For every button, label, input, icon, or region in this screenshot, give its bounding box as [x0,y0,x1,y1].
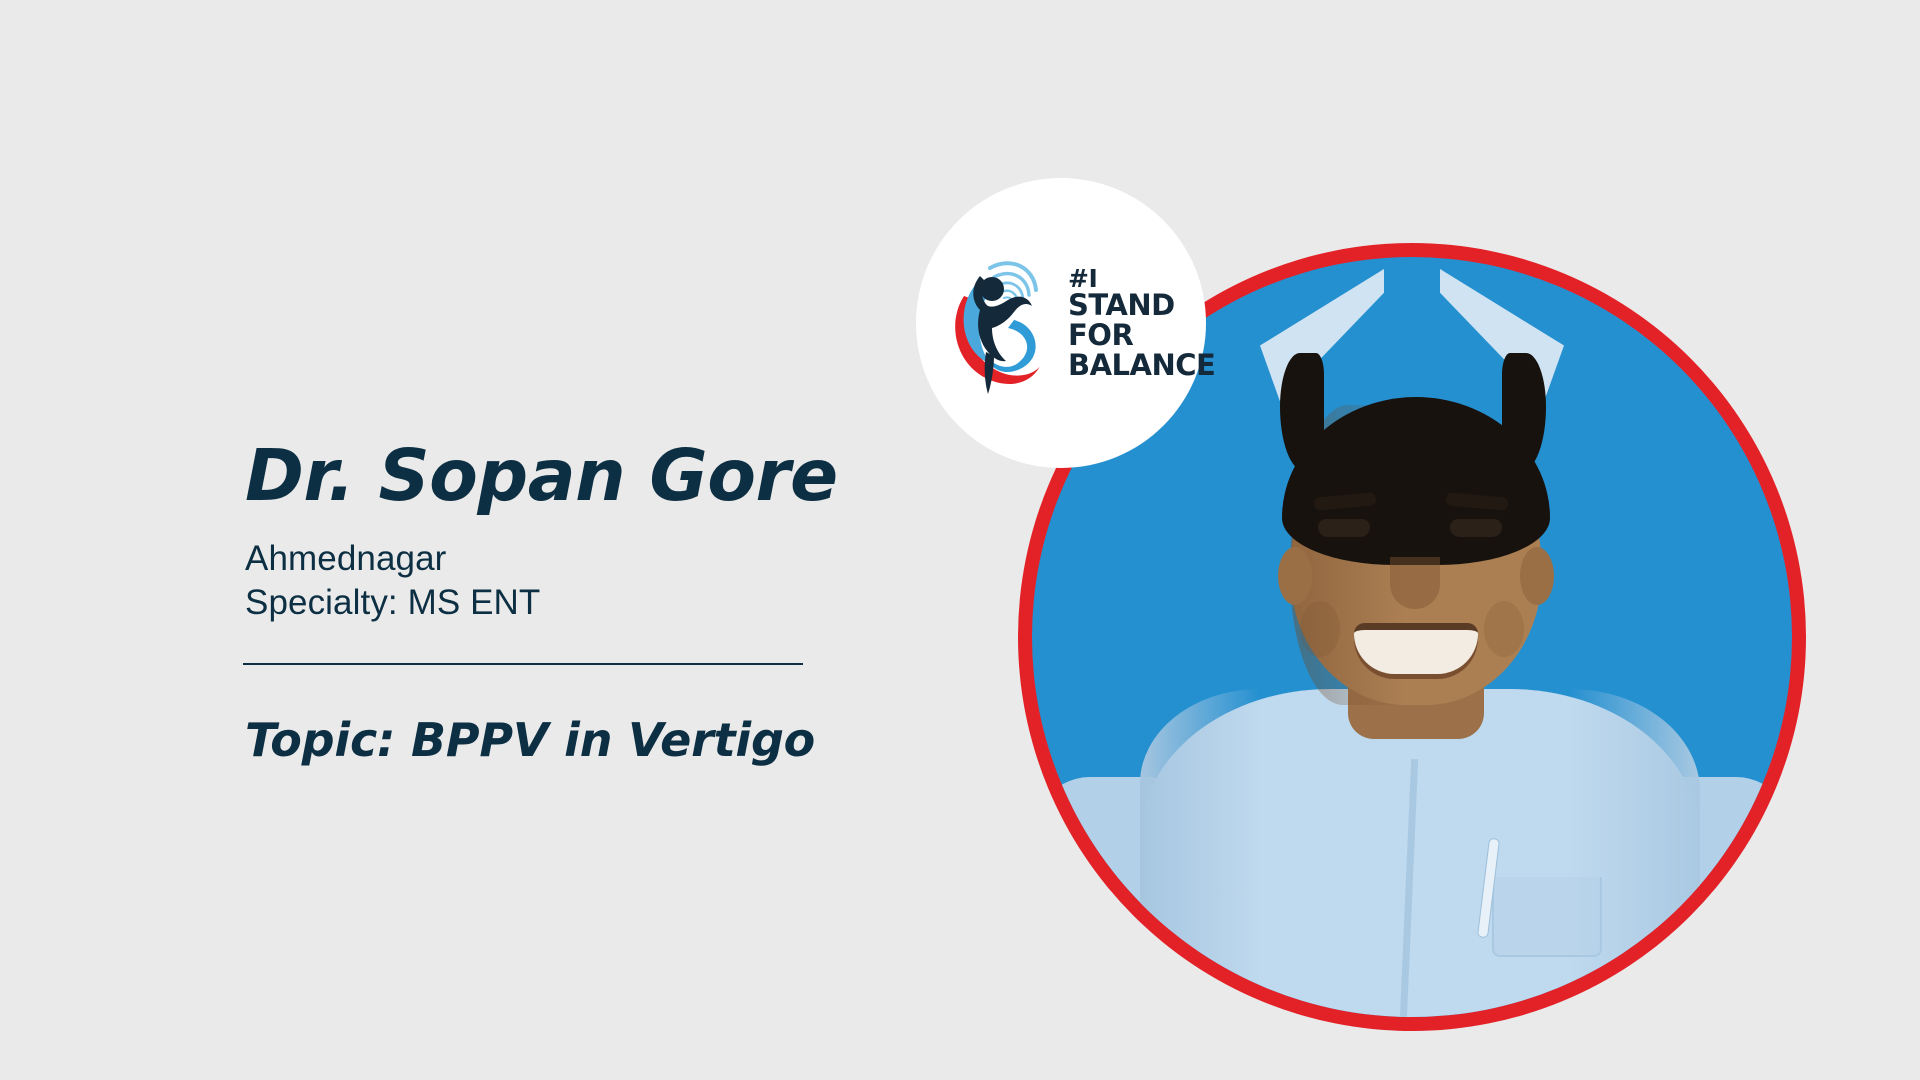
ear-right [1520,547,1554,605]
speaker-city: Ahmednagar [245,537,885,581]
logo-line-2: STAND [1068,291,1215,321]
eye-right [1450,519,1502,537]
nose [1390,557,1440,609]
eye-left [1318,519,1370,537]
hair-side-right [1502,353,1546,471]
speaker-specialty: Specialty: MS ENT [245,581,885,625]
cheek-left [1300,601,1340,657]
standing-figure-balance-icon [942,248,1062,398]
shirt-shade-right [1570,689,1700,1017]
badge-inner: #I STAND FOR BALANCE [916,178,1206,468]
shirt-pocket [1492,877,1602,957]
ear-left [1278,547,1312,605]
talk-topic: Topic: BPPV in Vertigo [245,717,885,763]
shirt-placket [1397,759,1418,1017]
hair-side-left [1280,353,1324,471]
speaker-name: Dr. Sopan Gore [245,440,885,511]
section-divider [243,663,803,665]
shirt-shade-left [1140,689,1260,1017]
speaker-info-block: Dr. Sopan Gore Ahmednagar Specialty: MS … [245,440,885,763]
cheek-right [1484,601,1524,657]
smile-mouth [1354,623,1478,674]
logo-line-3: FOR [1068,321,1215,351]
brand-logo-badge: #I STAND FOR BALANCE [916,178,1206,468]
logo-line-4: BALANCE [1068,351,1215,381]
logo-wordmark: #I STAND FOR BALANCE [1068,266,1215,380]
speaker-card-slide: Dr. Sopan Gore Ahmednagar Specialty: MS … [0,0,1920,1080]
